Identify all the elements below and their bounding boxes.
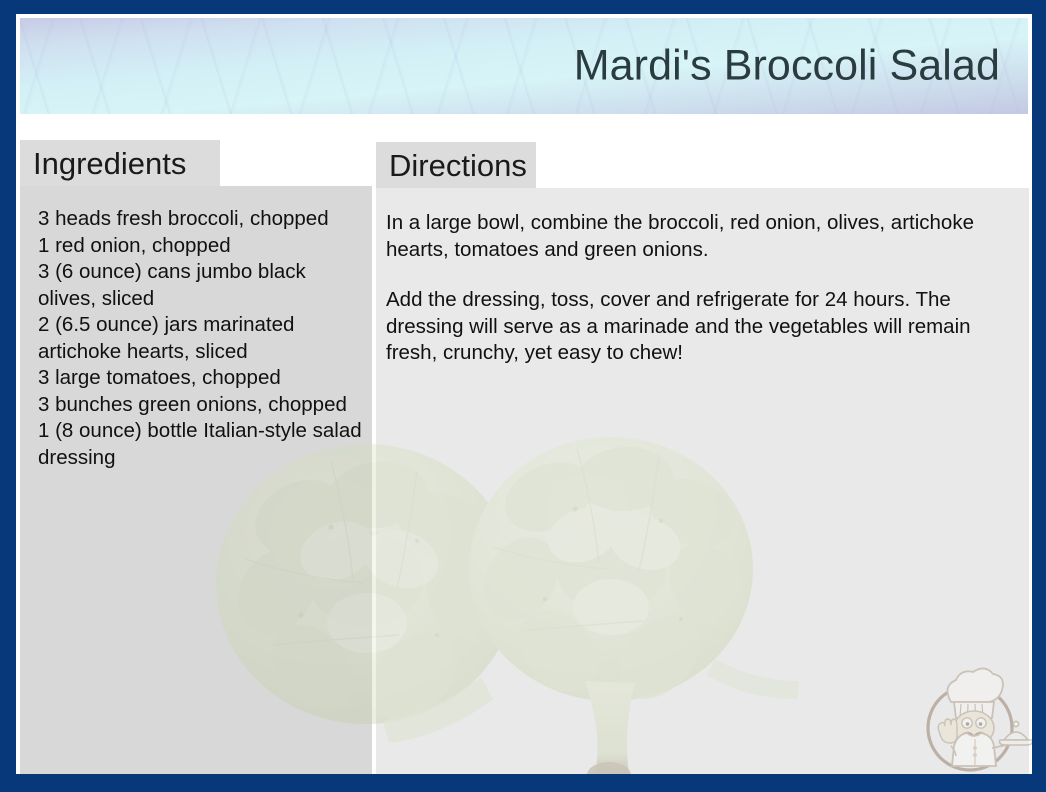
directions-paragraph: In a large bowl, combine the broccoli, r…	[386, 210, 1005, 263]
page-title: Mardi's Broccoli Salad	[574, 42, 1000, 91]
directions-heading: Directions	[389, 150, 527, 181]
list-item: 3 large tomatoes, chopped	[38, 365, 364, 392]
slide-canvas: Mardi's Broccoli Salad 3 heads fresh bro…	[16, 14, 1032, 774]
tab-ingredients[interactable]: Ingredients	[20, 140, 220, 186]
ingredients-heading: Ingredients	[33, 148, 186, 179]
list-item: 3 (6 ounce) cans jumbo black olives, sli…	[38, 259, 364, 312]
list-item: 1 (8 ounce) bottle Italian-style salad d…	[38, 418, 364, 471]
list-item: 3 heads fresh broccoli, chopped	[38, 206, 364, 233]
ingredients-list: 3 heads fresh broccoli, chopped 1 red on…	[20, 186, 372, 471]
ingredients-panel: 3 heads fresh broccoli, chopped 1 red on…	[20, 186, 372, 774]
list-item: 2 (6.5 ounce) jars marinated artichoke h…	[38, 312, 364, 365]
title-banner: Mardi's Broccoli Salad	[20, 18, 1028, 114]
directions-text: In a large bowl, combine the broccoli, r…	[376, 188, 1029, 367]
tab-directions[interactable]: Directions	[376, 142, 536, 188]
directions-paragraph: Add the dressing, toss, cover and refrig…	[386, 287, 1005, 367]
list-item: 3 bunches green onions, chopped	[38, 392, 364, 419]
recipe-slide: Mardi's Broccoli Salad 3 heads fresh bro…	[0, 0, 1046, 792]
directions-panel: In a large bowl, combine the broccoli, r…	[376, 188, 1029, 774]
list-item: 1 red onion, chopped	[38, 233, 364, 260]
